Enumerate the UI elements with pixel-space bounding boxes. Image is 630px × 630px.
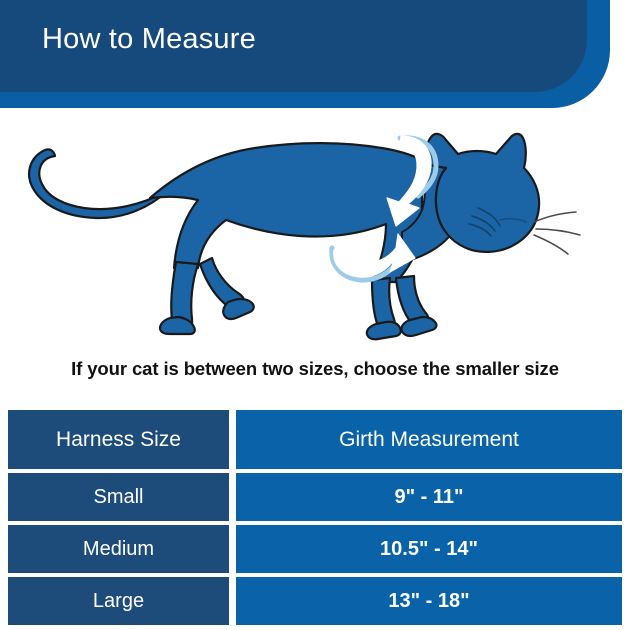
girth-measurement-value: 10.5" - 14" (236, 525, 622, 573)
cat-illustration (0, 112, 630, 352)
girth-measurement-value: 13" - 18" (236, 577, 622, 625)
table-row: Medium 10.5" - 14" (8, 525, 622, 573)
cat-front-paw-near (401, 317, 436, 336)
size-chart-table: Harness Size Girth Measurement Small 9" … (8, 410, 622, 625)
table-header-harness-size: Harness Size (8, 410, 229, 469)
cat-whisker-1 (534, 212, 576, 222)
page-title: How to Measure (42, 23, 256, 56)
cat-whisker-3 (534, 235, 568, 254)
page-header: How to Measure (0, 0, 630, 112)
cat-front-paw-far (367, 322, 401, 340)
harness-size-value: Medium (8, 525, 229, 573)
caption-text: If your cat is between two sizes, choose… (0, 358, 630, 380)
harness-size-value: Small (8, 473, 229, 521)
girth-measurement-value: 9" - 11" (236, 473, 622, 521)
table-header-girth-measurement: Girth Measurement (236, 410, 622, 469)
harness-size-value: Large (8, 577, 229, 625)
table-row: Small 9" - 11" (8, 473, 622, 521)
cat-figure (29, 134, 580, 339)
cat-whisker-2 (536, 229, 580, 235)
cat-tail (29, 149, 166, 218)
table-row: Large 13" - 18" (8, 577, 622, 625)
table-header-row: Harness Size Girth Measurement (8, 410, 622, 469)
cat-hind-paw-near (223, 299, 254, 319)
